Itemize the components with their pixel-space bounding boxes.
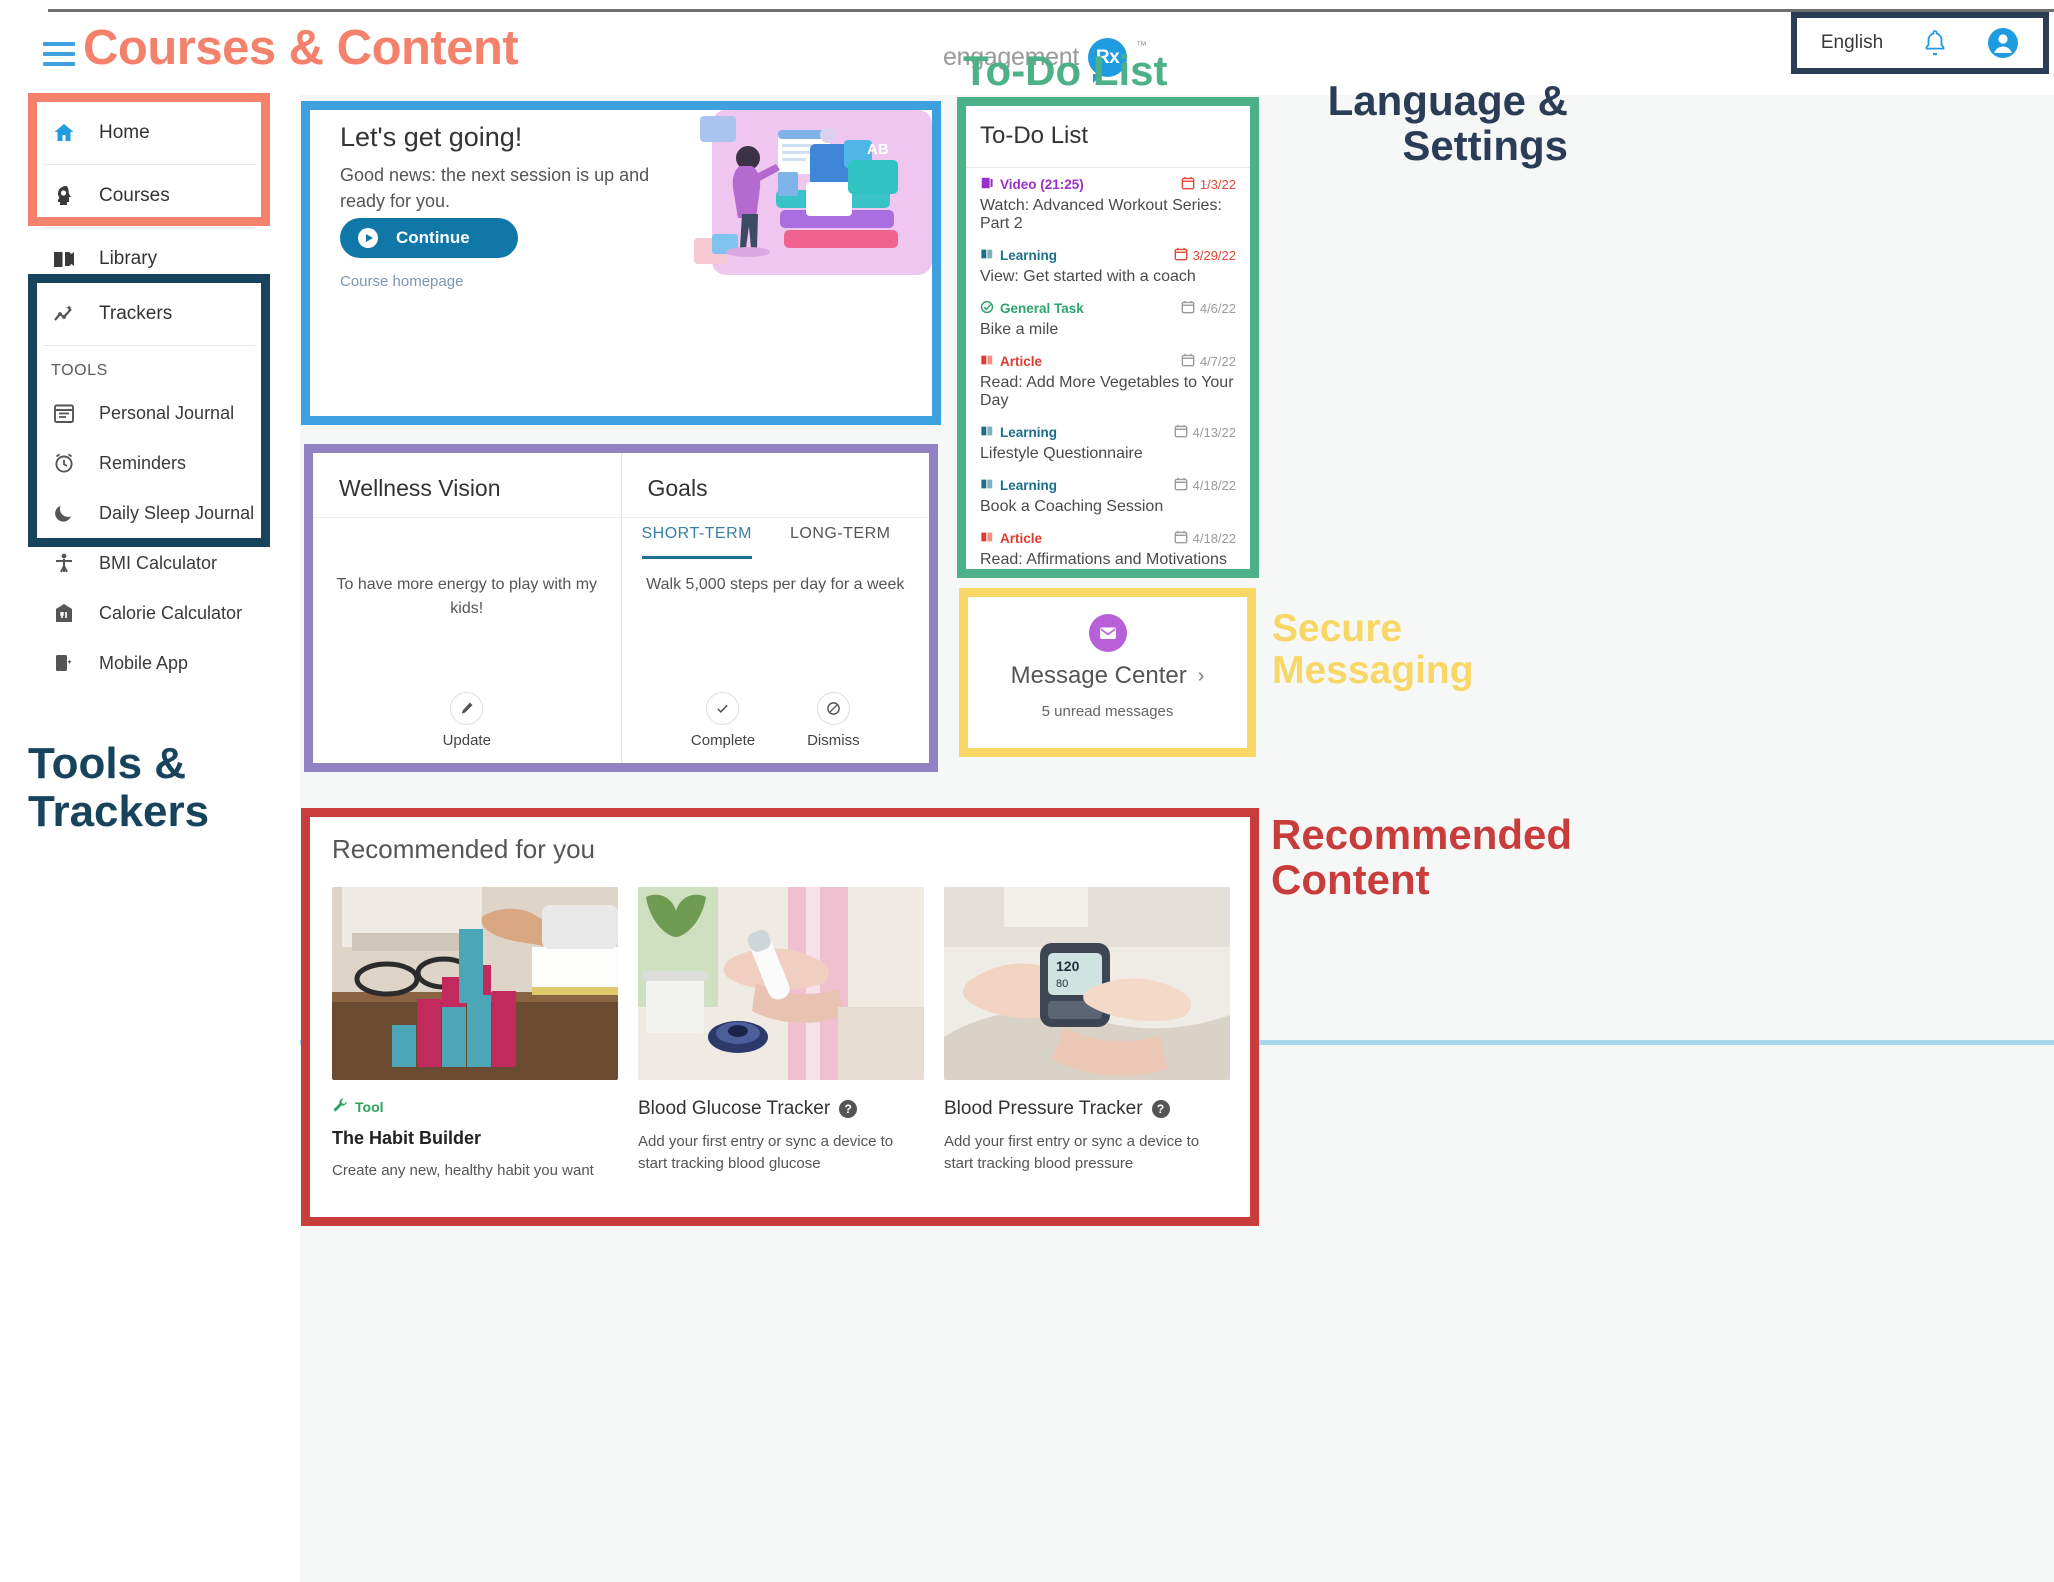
sidebar-item-reminders[interactable]: Reminders [37,438,261,488]
book-icon [980,353,994,370]
recommended-item[interactable]: Tool The Habit Builder Create any new, h… [332,887,618,1217]
todo-item-text: Watch: Advanced Workout Series: Part 2 [980,197,1236,233]
message-center-card[interactable]: Message Center › 5 unread messages [968,597,1247,748]
recommended-description: Create any new, healthy habit you want [332,1160,618,1182]
todo-item-date: 4/7/22 [1181,353,1236,370]
sidebar-item-personal-journal[interactable]: Personal Journal [37,388,261,438]
block-icon [817,692,850,725]
svg-text:AB: AB [867,141,889,158]
todo-item-date: 1/3/22 [1181,176,1236,193]
todo-item-type-label: General Task [1000,301,1084,316]
sidebar-item-label: Home [99,122,150,144]
todo-item-date-label: 4/18/22 [1193,478,1236,493]
trend-line-icon [51,302,77,326]
svg-text:120: 120 [1056,958,1080,974]
wellness-vision-text: To have more energy to play with my kids… [313,573,621,621]
recommended-grid: Tool The Habit Builder Create any new, h… [310,865,1250,1217]
panel-divider [313,517,621,518]
todo-item-date: 3/29/22 [1174,247,1236,264]
video-icon [980,176,994,193]
recommended-title-row: Blood Pressure Tracker ? [944,1098,1230,1120]
todo-item-meta: Video (21:25)1/3/22 [980,176,1236,193]
recommended-description: Add your first entry or sync a device to… [638,1131,924,1175]
book-icon [980,247,994,264]
alarm-clock-icon [51,452,77,474]
calendar-icon [1174,477,1188,494]
wellness-vision-panel: Wellness Vision To have more energy to p… [313,453,621,763]
todo-item-date-label: 1/3/22 [1200,177,1236,192]
todo-item-date: 4/6/22 [1181,300,1236,317]
message-center-label: Message Center [1011,662,1187,690]
tools-section-heading: TOOLS [37,346,261,388]
blood-glucose-photo [638,887,924,1080]
todo-item-date-label: 4/6/22 [1200,301,1236,316]
todo-item-meta: Article4/18/22 [980,530,1236,547]
body-figure-icon [51,552,77,574]
todo-item-type-label: Article [1000,354,1042,369]
dismiss-label: Dismiss [807,732,860,749]
sidebar-item-label: Courses [99,185,170,207]
envelope-icon [1089,614,1127,652]
recommended-tag-label: Tool [355,1099,384,1115]
todo-item-text: Read: Affirmations and Motivations [980,551,1236,569]
todo-item[interactable]: Video (21:25)1/3/22Watch: Advanced Worko… [980,176,1236,233]
wrench-icon [332,1097,348,1116]
sidebar-item-label: Reminders [99,453,186,474]
habit-blocks-photo [332,887,618,1080]
sidebar-item-label: Library [99,248,157,270]
annotation-secure-messaging: Secure Messaging [1272,608,1474,692]
todo-item-type: Article [980,353,1042,370]
sidebar-item-home[interactable]: Home [37,102,261,164]
pencil-icon [450,692,483,725]
todo-item-date: 4/18/22 [1174,477,1236,494]
header-top-rule [48,9,2054,12]
recommended-title-row: Blood Glucose Tracker ? [638,1098,924,1120]
open-book-icon [51,247,77,271]
sidebar-item-label: Personal Journal [99,403,234,424]
calendar-icon [1181,353,1195,370]
sidebar-item-label: Trackers [99,303,172,325]
sidebar-item-label: Daily Sleep Journal [99,503,254,524]
goals-title: Goals [622,453,930,502]
mobile-device-icon [51,652,77,674]
todo-item-type: General Task [980,300,1084,317]
goals-panel: Goals SHORT-TERM LONG-TERM Walk 5,000 st… [621,453,930,763]
goals-text: Walk 5,000 steps per day for a week [622,573,930,597]
learning-illustration: AB [692,110,932,275]
help-icon[interactable]: ? [1152,1100,1170,1118]
svg-text:80: 80 [1056,978,1068,990]
todo-item-text: Bike a mile [980,321,1236,339]
todo-item-date-label: 4/13/22 [1193,425,1236,440]
todo-item-date-label: 4/18/22 [1193,531,1236,546]
sidebar-item-daily-sleep-journal[interactable]: Daily Sleep Journal [37,488,261,538]
play-circle-icon [358,228,378,248]
tab-short-term[interactable]: SHORT-TERM [642,525,752,559]
todo-item-meta: Learning4/18/22 [980,477,1236,494]
message-center-title: Message Center › [1011,662,1205,690]
language-selector[interactable]: English [1821,32,1883,54]
user-avatar-icon[interactable] [1987,27,2019,59]
todo-item-text: Lifestyle Questionnaire [980,445,1236,463]
sidebar-primary-nav[interactable]: Home Courses Library [28,93,270,226]
todo-item-type: Learning [980,477,1057,494]
todo-item-text: Book a Coaching Session [980,498,1236,516]
sidebar-item-bmi-calculator[interactable]: BMI Calculator [37,538,261,588]
book-icon [980,530,994,547]
todo-item-date-label: 3/29/22 [1193,248,1236,263]
check-circle-icon [980,300,994,317]
language-settings-group[interactable]: English [1791,12,2049,74]
recommended-heading: Recommended for you [310,817,1250,865]
todo-item-type-label: Learning [1000,248,1057,263]
todo-item-type-label: Article [1000,531,1042,546]
panel-divider [622,517,930,518]
goals-actions: Complete Dismiss [622,692,930,749]
complete-label: Complete [691,732,755,749]
tab-long-term[interactable]: LONG-TERM [790,525,891,559]
todo-item[interactable]: Article4/18/22Read: Affirmations and Mot… [980,530,1236,569]
recommended-tag: Tool [332,1097,618,1116]
todo-item-meta: General Task4/6/22 [980,300,1236,317]
todo-item[interactable]: General Task4/6/22Bike a mile [980,300,1236,339]
sidebar-item-courses[interactable]: Courses [37,165,261,227]
calendar-note-icon [51,402,77,424]
wellness-vision-actions: Update [313,692,621,749]
goals-tabs[interactable]: SHORT-TERM LONG-TERM [622,525,930,559]
sidebar-item-mobile-app[interactable]: Mobile App [37,638,261,688]
head-lightbulb-icon [51,184,77,208]
calendar-icon [1181,300,1195,317]
todo-item-text: View: Get started with a coach [980,268,1236,286]
sidebar-item-calorie-calculator[interactable]: Calorie Calculator [37,588,261,638]
cta-title: Let's get going! [340,122,522,153]
moon-icon [51,502,77,524]
annotation-courses-content: Courses & Content [83,22,518,75]
complete-goal-button[interactable]: Complete [691,692,755,749]
cta-subtitle: Good news: the next session is up and re… [340,162,680,214]
todo-item-type: Learning [980,424,1057,441]
continue-button[interactable]: Continue [340,218,518,258]
todo-item-type-label: Video (21:25) [1000,177,1084,192]
home-icon [51,121,77,145]
calendar-icon [1181,176,1195,193]
todo-item-meta: Learning3/29/22 [980,247,1236,264]
recommended-title: The Habit Builder [332,1128,618,1149]
call-to-action-card: AB Let's get going! Good news: the next … [310,110,932,416]
todo-item-type: Learning [980,247,1057,264]
course-homepage-link[interactable]: Course homepage [340,273,463,290]
todo-item-date: 4/13/22 [1174,424,1236,441]
annotation-todo-list: To-Do List [963,48,1168,93]
calendar-icon [1174,530,1188,547]
recommended-title: Blood Pressure Tracker [944,1098,1143,1120]
annotation-tools-trackers: Tools & Trackers [28,740,209,835]
book-icon [980,477,994,494]
sidebar-item-label: BMI Calculator [99,553,217,574]
update-vision-button[interactable]: Update [443,692,491,749]
update-label: Update [443,732,491,749]
food-house-icon [51,602,77,624]
todo-item[interactable]: Learning4/13/22Lifestyle Questionnaire [980,424,1236,463]
todo-item-date-label: 4/7/22 [1200,354,1236,369]
sidebar-item-label: Calorie Calculator [99,603,242,624]
recommended-item[interactable]: 120 80 Blood Pressure Tracker ? Add your… [944,887,1230,1217]
todo-item-meta: Article4/7/22 [980,353,1236,370]
todo-list-card: To-Do List Video (21:25)1/3/22Watch: Adv… [966,106,1250,569]
todo-items-container: Video (21:25)1/3/22Watch: Advanced Worko… [966,168,1250,569]
check-icon [706,692,739,725]
recommended-item[interactable]: Blood Glucose Tracker ? Add your first e… [638,887,924,1217]
calendar-icon [1174,247,1188,264]
todo-item-type-label: Learning [1000,478,1057,493]
recommended-title: Blood Glucose Tracker [638,1098,830,1120]
todo-item-date: 4/18/22 [1174,530,1236,547]
todo-item-text: Read: Add More Vegetables to Your Day [980,374,1236,410]
chevron-right-icon: › [1198,665,1205,688]
sidebar-item-label: Mobile App [99,653,188,674]
continue-button-label: Continue [396,228,470,248]
notification-bell-icon[interactable] [1923,29,1947,57]
todo-item[interactable]: Learning4/18/22Book a Coaching Session [980,477,1236,516]
vision-goals-card: Wellness Vision To have more energy to p… [313,453,929,763]
help-icon[interactable]: ? [839,1100,857,1118]
hamburger-menu-icon[interactable] [43,42,75,66]
sidebar-item-trackers[interactable]: Trackers [37,283,261,345]
recommended-description: Add your first entry or sync a device to… [944,1131,1230,1175]
todo-item[interactable]: Article4/7/22Read: Add More Vegetables t… [980,353,1236,410]
todo-item-meta: Learning4/13/22 [980,424,1236,441]
calendar-icon [1174,424,1188,441]
annotation-language-settings: Language & Settings [1313,78,1568,169]
blood-pressure-photo: 120 80 [944,887,1230,1080]
unread-messages-count: 5 unread messages [1042,703,1174,720]
recommended-card: Recommended for you [310,817,1250,1217]
todo-item-type: Video (21:25) [980,176,1084,193]
todo-item-type: Article [980,530,1042,547]
dismiss-goal-button[interactable]: Dismiss [807,692,860,749]
book-icon [980,424,994,441]
annotation-recommended-content: Recommended Content [1271,812,1572,903]
todo-list-title: To-Do List [966,106,1250,150]
sidebar-tools-nav[interactable]: Trackers TOOLS Personal Journal Reminder… [28,274,270,547]
wellness-vision-title: Wellness Vision [313,453,621,502]
todo-item[interactable]: Learning3/29/22View: Get started with a … [980,247,1236,286]
todo-item-type-label: Learning [1000,425,1057,440]
